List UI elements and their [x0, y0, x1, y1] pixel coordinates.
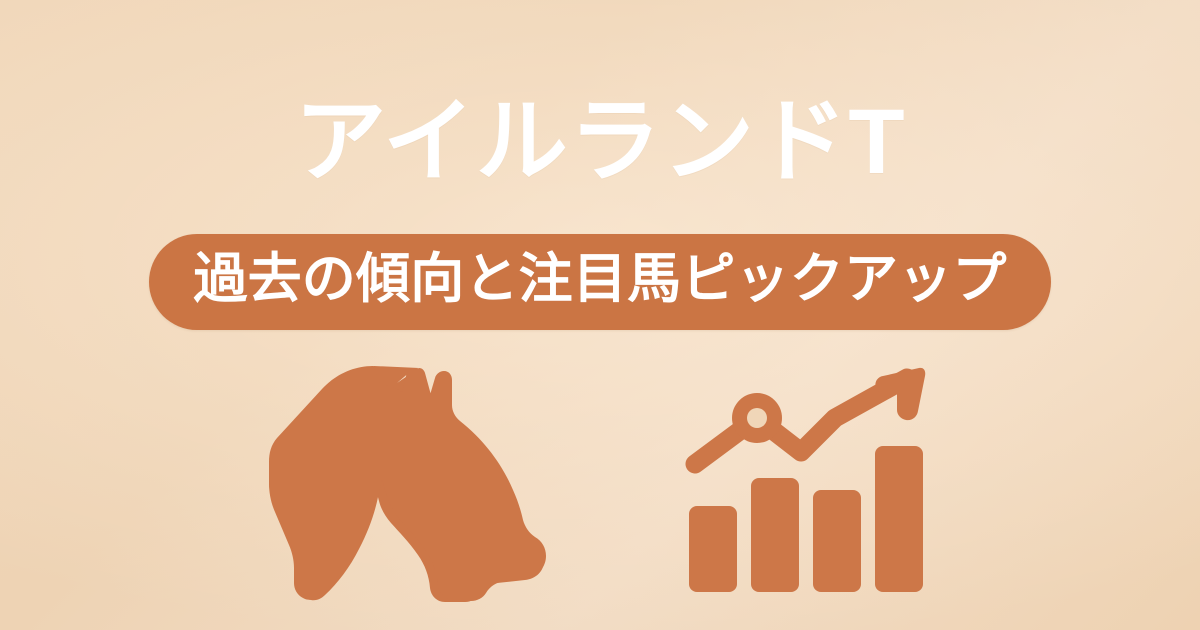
subtitle-row: 過去の傾向と注目馬ピックアップ [0, 234, 1200, 330]
icon-row [0, 352, 1200, 612]
bar-chart-trend-up-icon [683, 366, 931, 598]
page-title: アイルランドT [0, 96, 1200, 190]
subtitle-badge: 過去の傾向と注目馬ピックアップ [149, 234, 1050, 330]
horse-head-icon [269, 362, 547, 602]
ogp-card: アイルランドT 過去の傾向と注目馬ピックアップ [0, 0, 1200, 630]
title-block: アイルランドT [0, 96, 1200, 190]
